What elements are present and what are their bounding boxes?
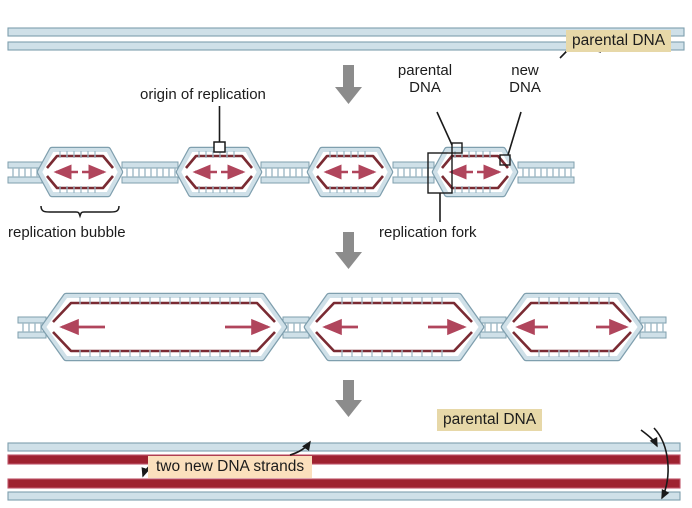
parental-dna-pointer [437,112,452,145]
replication-bubble-large-1 [44,296,284,358]
label-parental-dna-fork-line2: DNA [409,79,441,96]
replication-bubble-2 [179,106,259,194]
replication-bubble-large-3 [504,296,640,358]
diagram-canvas [0,0,692,508]
label-parental-dna-bottom: parental DNA [437,409,542,431]
strand-new-lower [8,479,680,488]
stage-arrow-3 [335,380,362,417]
replication-bubble-1 [40,150,120,194]
label-parental-dna-fork-line1: parental [398,62,452,79]
label-replication-bubble: replication bubble [8,224,126,241]
replication-bubble-4 [428,112,521,222]
strand-parental-lower [8,492,680,500]
label-new-dna-fork-line2: DNA [509,79,541,96]
origin-of-replication-marker [214,142,225,152]
replication-bubble-brace [41,206,119,216]
label-new-dna-fork-line1: new [511,62,539,79]
label-origin-of-replication: origin of replication [140,86,266,103]
stage-arrow-1 [335,65,362,104]
replication-bubble-3 [310,150,390,194]
stage-4-two-daughter-molecules [8,428,680,500]
stage-2-replication-bubbles-small [8,106,574,222]
label-replication-fork: replication fork [379,224,477,241]
stage-arrow-2 [335,232,362,269]
dna-replication-diagram: parental DNA origin of replication paren… [0,0,692,508]
strand-new-upper [8,455,680,464]
strand-parental-upper [8,443,680,451]
label-new-dna-fork: new DNA [494,62,556,96]
replication-bubble-large-2 [307,296,481,358]
stage-3-replication-bubbles-large [18,296,666,358]
label-parental-dna-fork: parental DNA [388,62,462,96]
new-dna-pointer [508,112,521,155]
label-parental-dna-top: parental DNA [566,30,671,52]
label-two-new-dna-strands: two new DNA strands [148,456,312,478]
